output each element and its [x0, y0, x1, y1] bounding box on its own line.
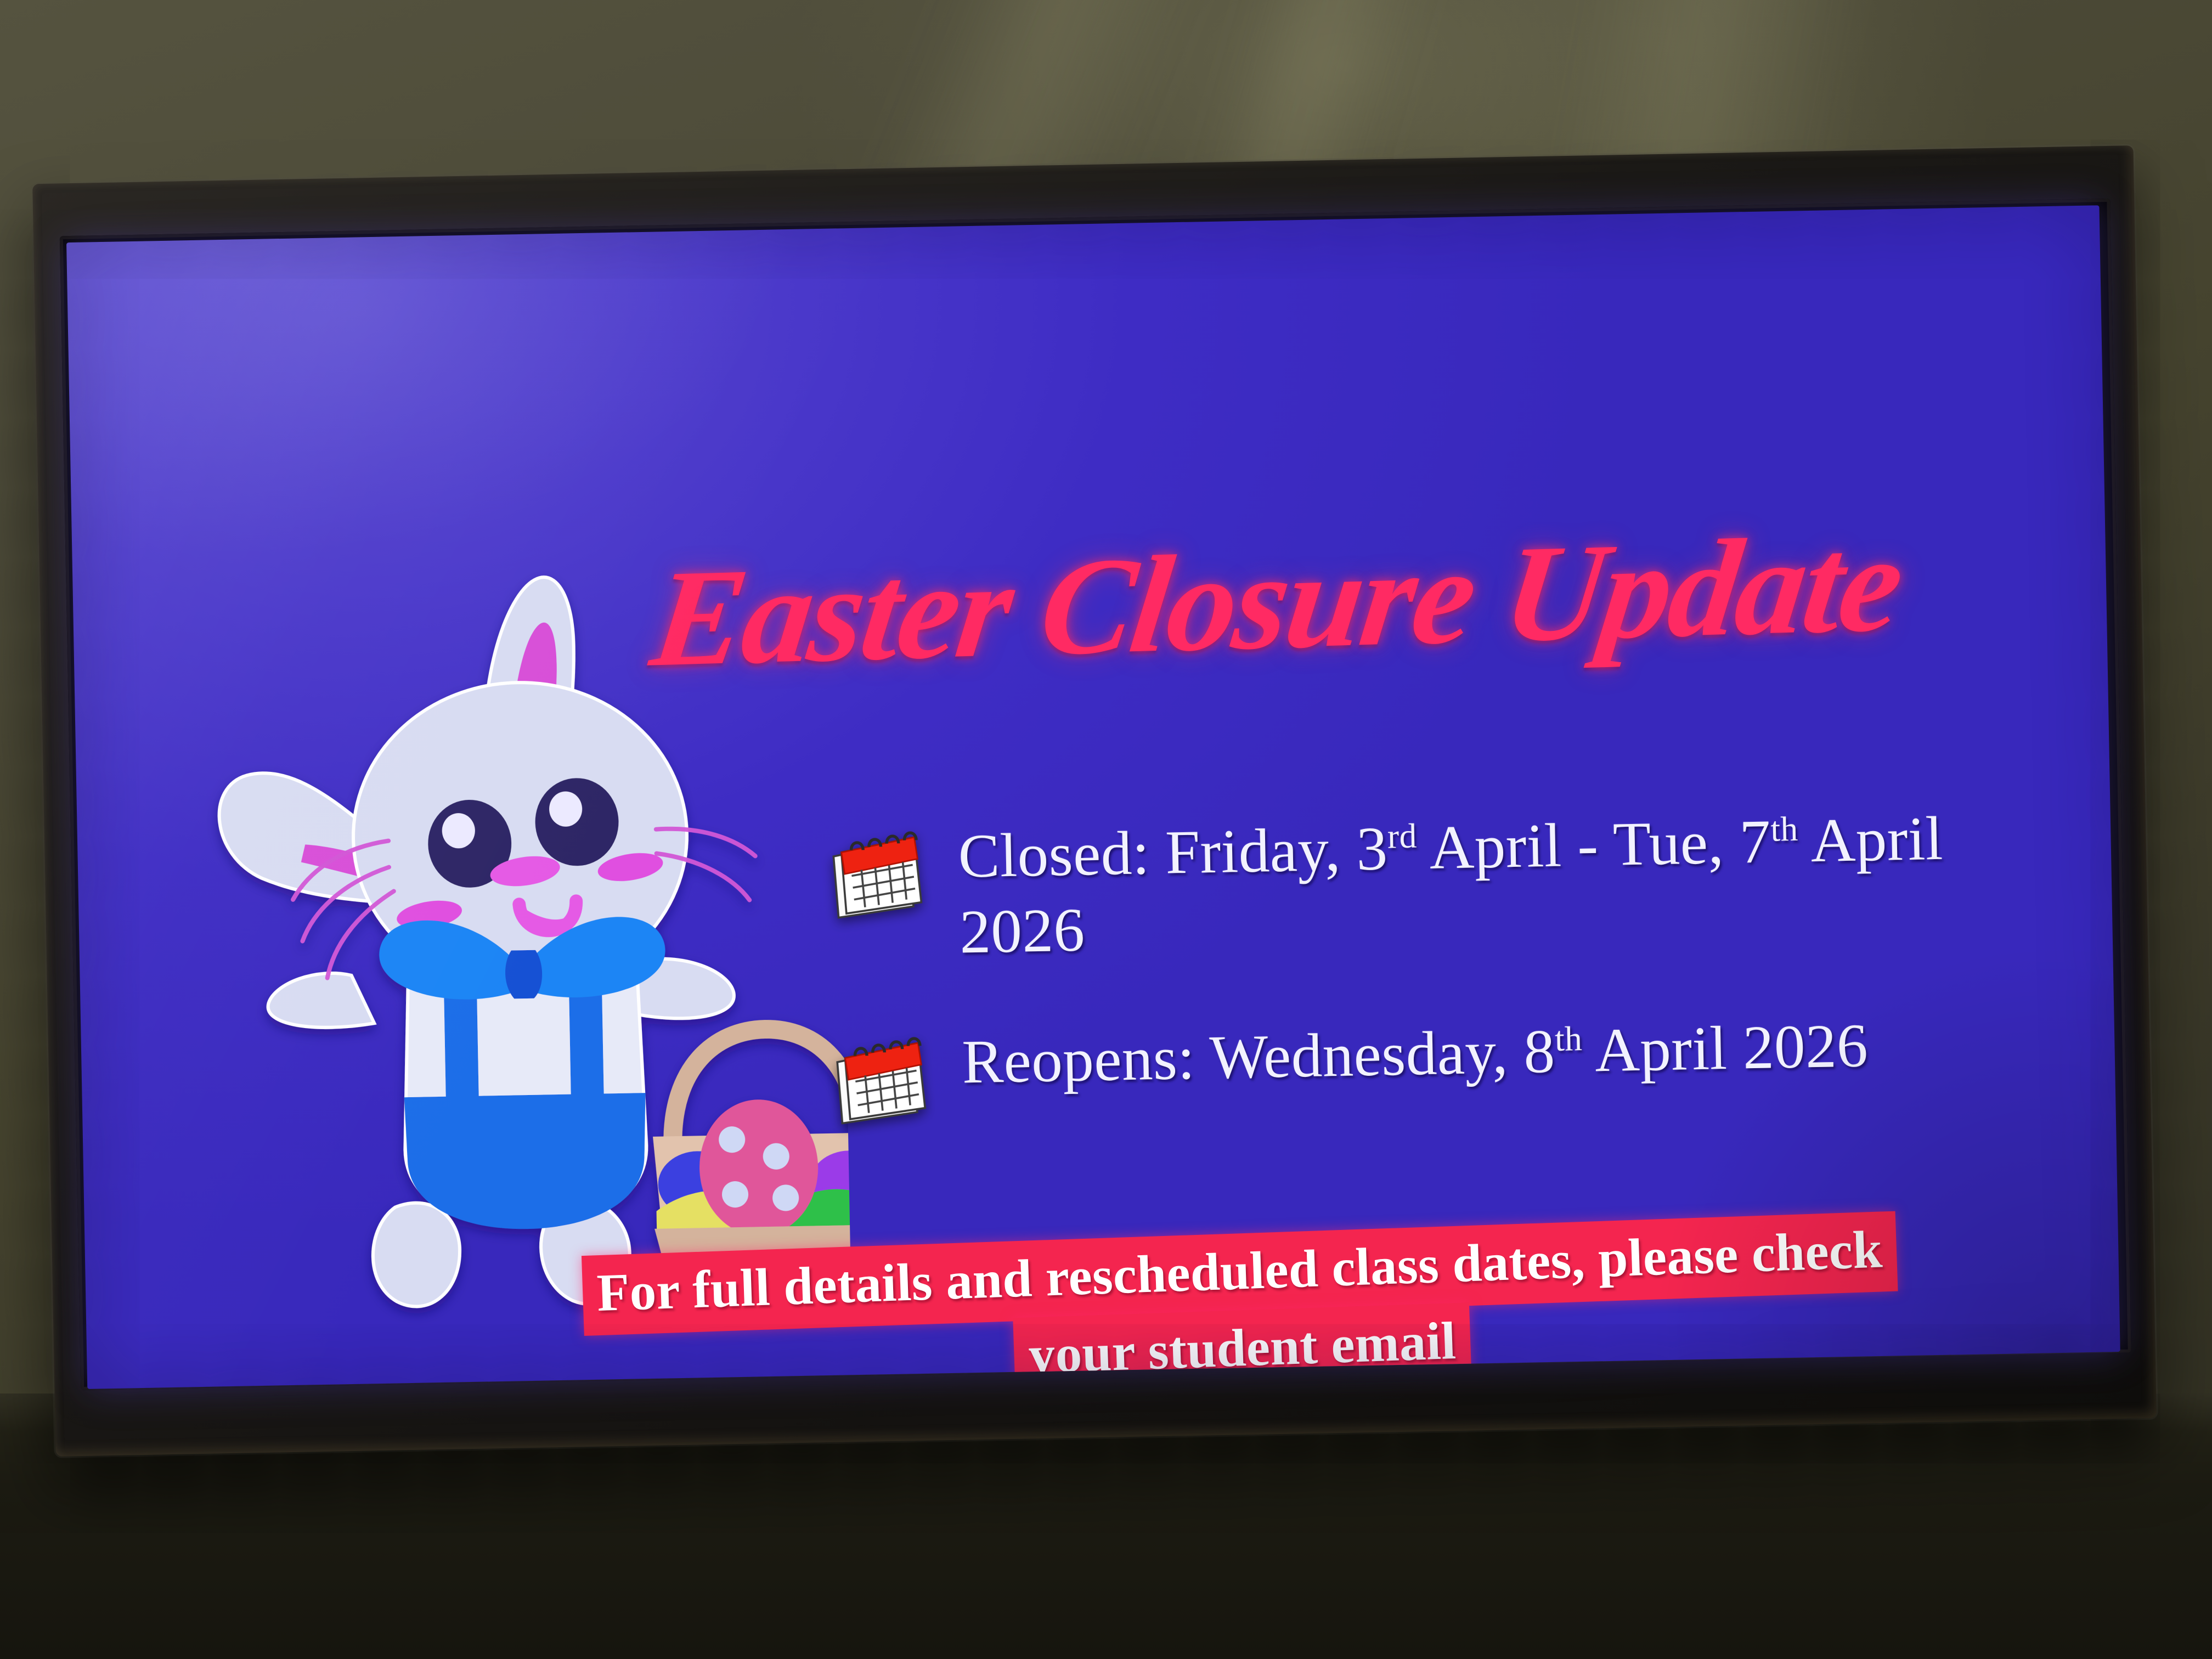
reopens-prefix: Reopens: Wednesday, 8 [962, 1017, 1556, 1097]
bullet-row-closed: Closed: Friday, 3rd April - Tue, 7th Apr… [821, 799, 2041, 972]
reopens-ordinal-1: th [1554, 1019, 1582, 1058]
photographed-room-scene: Easter Closure Update [0, 0, 2212, 1659]
closed-prefix: Closed: Friday, 3 [958, 814, 1389, 890]
calendar-icon [821, 827, 932, 928]
reopens-suffix: April 2026 [1582, 1011, 1869, 1085]
page-title: Easter Closure Update [645, 512, 1904, 690]
closed-ordinal-1: rd [1387, 817, 1417, 856]
bullet-text-closed: Closed: Friday, 3rd April - Tue, 7th Apr… [958, 799, 2041, 970]
closed-middle: April - Tue, 7 [1417, 807, 1771, 882]
closed-ordinal-2: th [1770, 810, 1798, 849]
tv-screen-slide: Easter Closure Update [66, 205, 2120, 1389]
bullet-row-reopens: Reopens: Wednesday, 8th April 2026 [824, 1005, 2055, 1133]
calendar-icon [825, 1032, 936, 1133]
bullet-text-reopens: Reopens: Wednesday, 8th April 2026 [961, 1008, 1869, 1100]
wall-mounted-television: Easter Closure Update [32, 145, 2157, 1457]
